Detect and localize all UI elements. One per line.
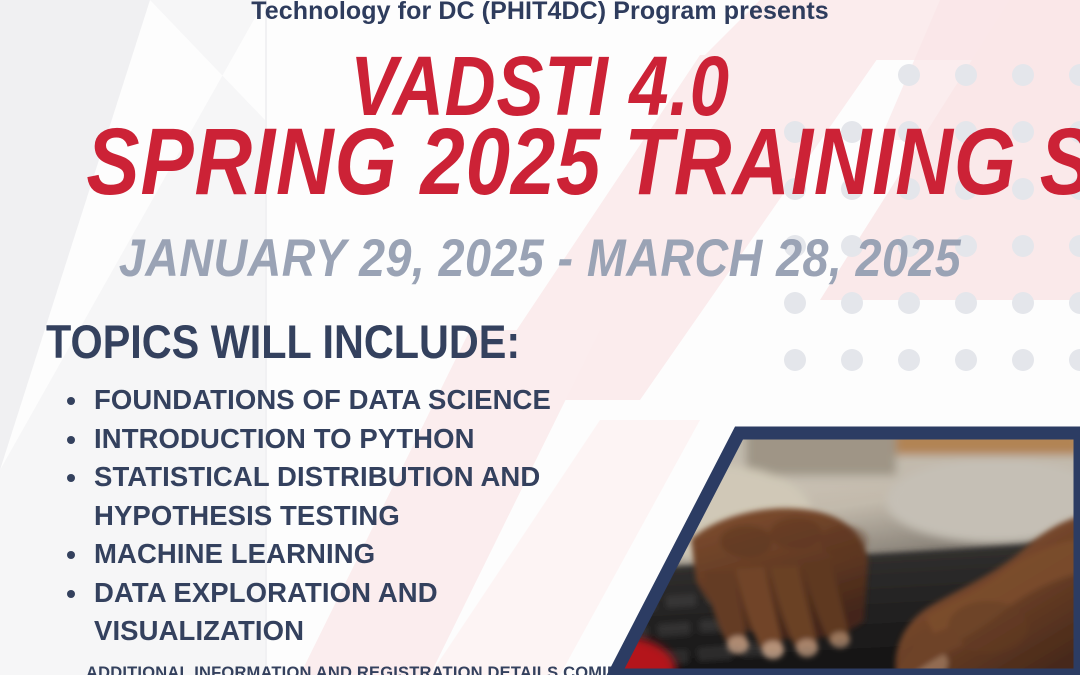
dot (898, 349, 920, 371)
laptop-typing-photo (596, 421, 1080, 675)
dot (955, 349, 977, 371)
topics-list: FOUNDATIONS OF DATA SCIENCE INTRODUCTION… (52, 381, 612, 651)
dot (1012, 292, 1034, 314)
photo-content (596, 421, 1080, 675)
dot (1069, 292, 1080, 314)
title-block: VADSTI 4.0 SPRING 2025 TRAINING SERIES (0, 48, 1080, 207)
list-item: STATISTICAL DISTRIBUTION AND HYPOTHESIS … (52, 458, 612, 535)
title-line-secondary: SPRING 2025 TRAINING SERIES (86, 119, 993, 206)
dot (1012, 349, 1034, 371)
photo-container (596, 421, 1080, 675)
promotional-flyer: Technology for DC (PHIT4DC) Program pres… (0, 0, 1080, 675)
dot (841, 349, 863, 371)
dot (898, 292, 920, 314)
presenter-line: Technology for DC (PHIT4DC) Program pres… (0, 0, 1080, 26)
dot (841, 292, 863, 314)
topics-heading: TOPICS WILL INCLUDE: (46, 318, 520, 365)
dot (1012, 235, 1034, 257)
list-item: DATA EXPLORATION AND VISUALIZATION (52, 574, 612, 651)
list-item: FOUNDATIONS OF DATA SCIENCE (52, 381, 612, 420)
date-range: JANUARY 29, 2025 - MARCH 28, 2025 (65, 232, 1015, 285)
dot (1069, 235, 1080, 257)
dot (784, 349, 806, 371)
dot (955, 292, 977, 314)
dot (784, 292, 806, 314)
list-item: MACHINE LEARNING (52, 535, 612, 574)
list-item: INTRODUCTION TO PYTHON (52, 420, 612, 459)
dot (1069, 349, 1080, 371)
